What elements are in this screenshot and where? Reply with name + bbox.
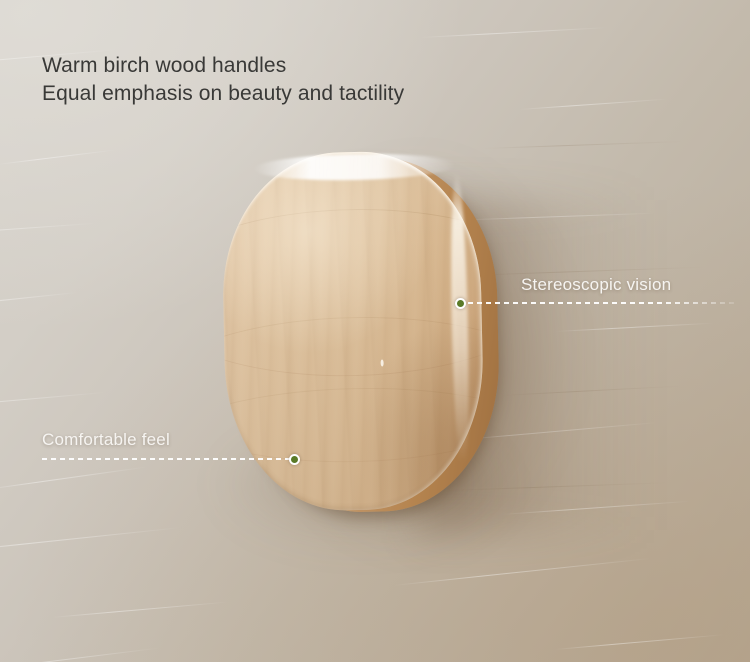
callout-label-comfortable-feel: Comfortable feel	[42, 430, 170, 450]
callout-marker-stereoscopic-vision	[455, 298, 466, 309]
callout-leader-line-stereoscopic-vision	[468, 302, 736, 304]
callout-leader-line-comfortable-feel	[42, 458, 290, 460]
product-feature-scene: Warm birch wood handles Equal emphasis o…	[0, 0, 750, 662]
page-title: Warm birch wood handles Equal emphasis o…	[42, 52, 404, 108]
headline-line-2: Equal emphasis on beauty and tactility	[42, 80, 404, 108]
headline-line-1: Warm birch wood handles	[42, 52, 404, 80]
product-image-wood-handle	[220, 149, 496, 517]
callout-label-stereoscopic-vision: Stereoscopic vision	[521, 275, 671, 295]
callout-marker-comfortable-feel	[289, 454, 300, 465]
